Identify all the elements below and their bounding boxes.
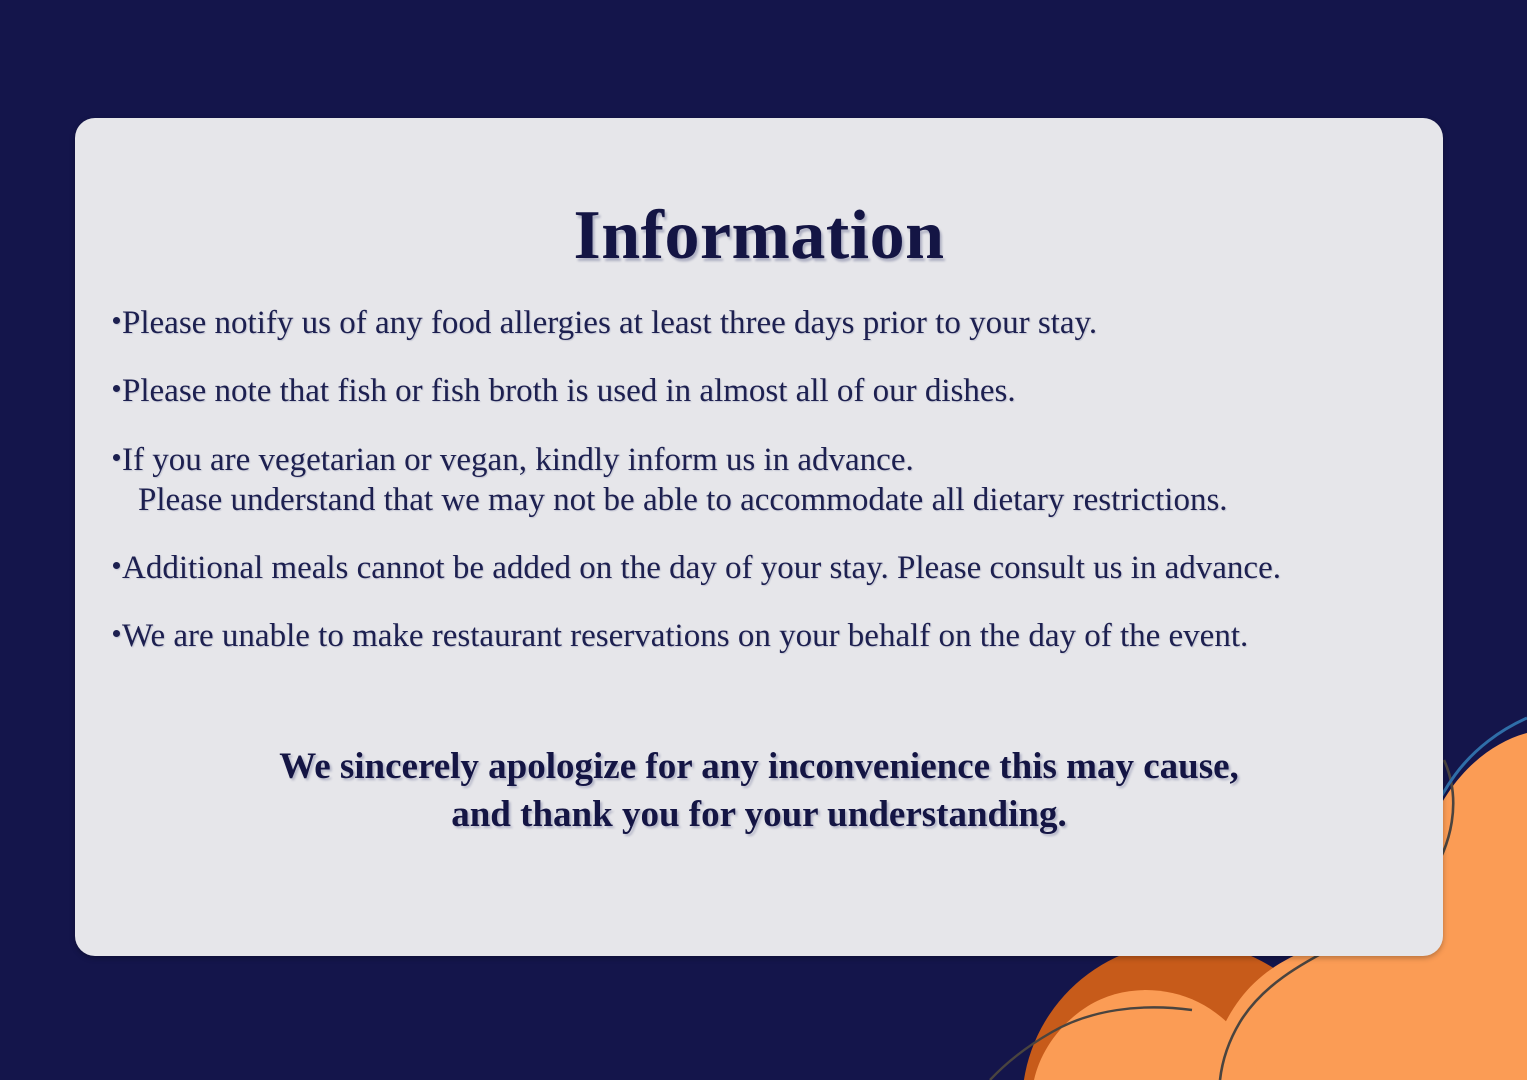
dark-orange-circle	[1022, 942, 1348, 1080]
list-item-text-continued: Please understand that we may not be abl…	[122, 480, 1430, 520]
bullet-marker-icon: ・	[100, 440, 133, 480]
list-item-text: Please notify us of any food allergies a…	[122, 305, 1097, 341]
closing-line-1: We sincerely apologize for any inconveni…	[75, 743, 1443, 791]
list-item: ・ If you are vegetarian or vegan, kindly…	[100, 440, 1430, 521]
blue-accent-curve	[1434, 718, 1527, 812]
bullet-marker-icon: ・	[100, 371, 133, 411]
orange-wave-blob-lower	[1034, 990, 1260, 1080]
list-item: ・ Additional meals cannot be added on th…	[100, 548, 1430, 588]
bullet-marker-icon: ・	[100, 548, 133, 588]
list-item: ・ Please note that fish or fish broth is…	[100, 371, 1430, 411]
list-item-text: Additional meals cannot be added on the …	[122, 550, 1281, 586]
bullet-marker-icon: ・	[100, 616, 133, 656]
list-item: ・ We are unable to make restaurant reser…	[100, 616, 1430, 656]
list-item-text: If you are vegetarian or vegan, kindly i…	[122, 442, 914, 478]
page-title: Information	[75, 196, 1443, 276]
bullet-marker-icon: ・	[100, 303, 133, 343]
information-card: Information ・ Please notify us of any fo…	[75, 118, 1443, 956]
list-item: ・ Please notify us of any food allergies…	[100, 303, 1430, 343]
notice-list: ・ Please notify us of any food allergies…	[100, 303, 1430, 685]
list-item-text: Please note that fish or fish broth is u…	[122, 373, 1016, 409]
thin-curved-line-sweep	[990, 1007, 1192, 1080]
closing-statement: We sincerely apologize for any inconveni…	[75, 743, 1443, 839]
slide-canvas: Information ・ Please notify us of any fo…	[0, 0, 1527, 1080]
list-item-text: We are unable to make restaurant reserva…	[122, 618, 1248, 654]
closing-line-2: and thank you for your understanding.	[75, 791, 1443, 839]
